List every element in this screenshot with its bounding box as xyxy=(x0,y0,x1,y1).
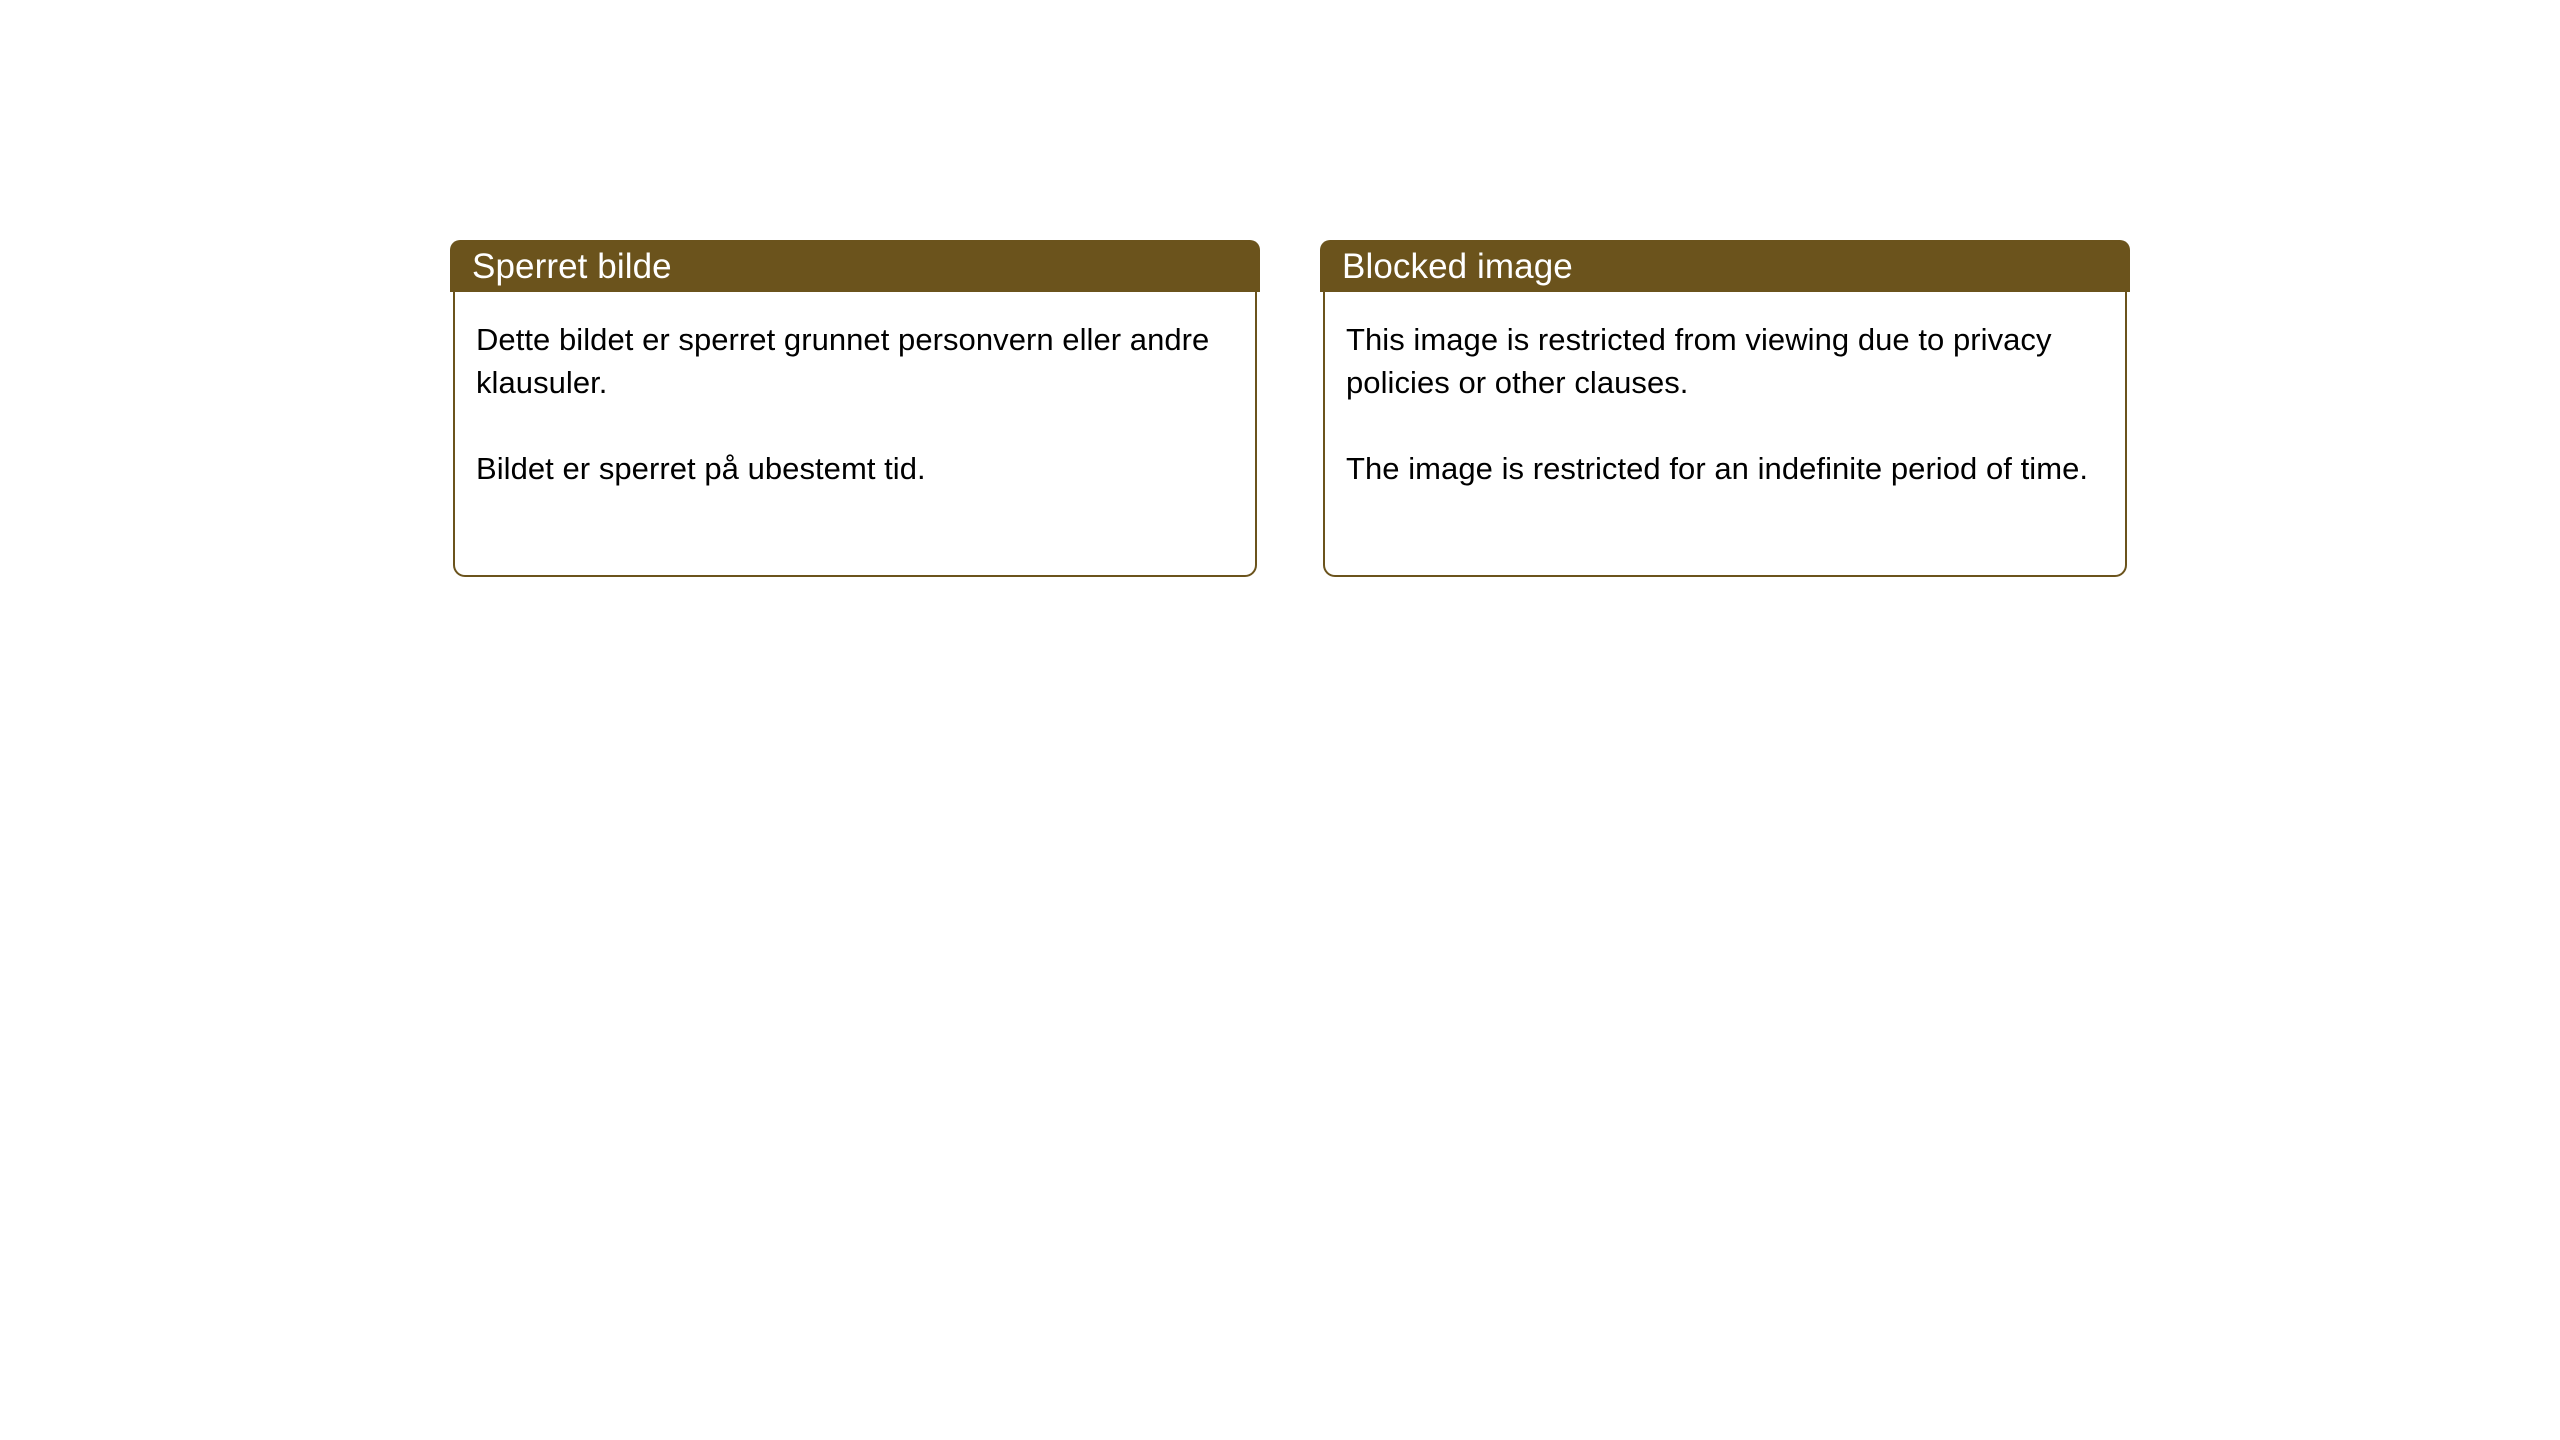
notice-paragraph-reason-no: Dette bildet er sperret grunnet personve… xyxy=(476,318,1231,404)
notice-card-body-en: This image is restricted from viewing du… xyxy=(1323,292,2127,577)
notice-paragraph-duration-no: Bildet er sperret på ubestemt tid. xyxy=(476,447,1231,490)
blocked-image-notice-card-en: Blocked image This image is restricted f… xyxy=(1320,240,2130,577)
notice-card-header-no: Sperret bilde xyxy=(450,240,1260,292)
notice-card-body-no: Dette bildet er sperret grunnet personve… xyxy=(453,292,1257,577)
notice-paragraph-reason-en: This image is restricted from viewing du… xyxy=(1346,318,2101,404)
notice-card-title-no: Sperret bilde xyxy=(472,249,672,284)
notice-paragraph-duration-en: The image is restricted for an indefinit… xyxy=(1346,447,2101,490)
notice-card-header-en: Blocked image xyxy=(1320,240,2130,292)
blocked-image-notice-card-no: Sperret bilde Dette bildet er sperret gr… xyxy=(450,240,1260,577)
notice-card-title-en: Blocked image xyxy=(1342,249,1573,284)
blocked-image-notice-area: Sperret bilde Dette bildet er sperret gr… xyxy=(0,0,2560,1440)
